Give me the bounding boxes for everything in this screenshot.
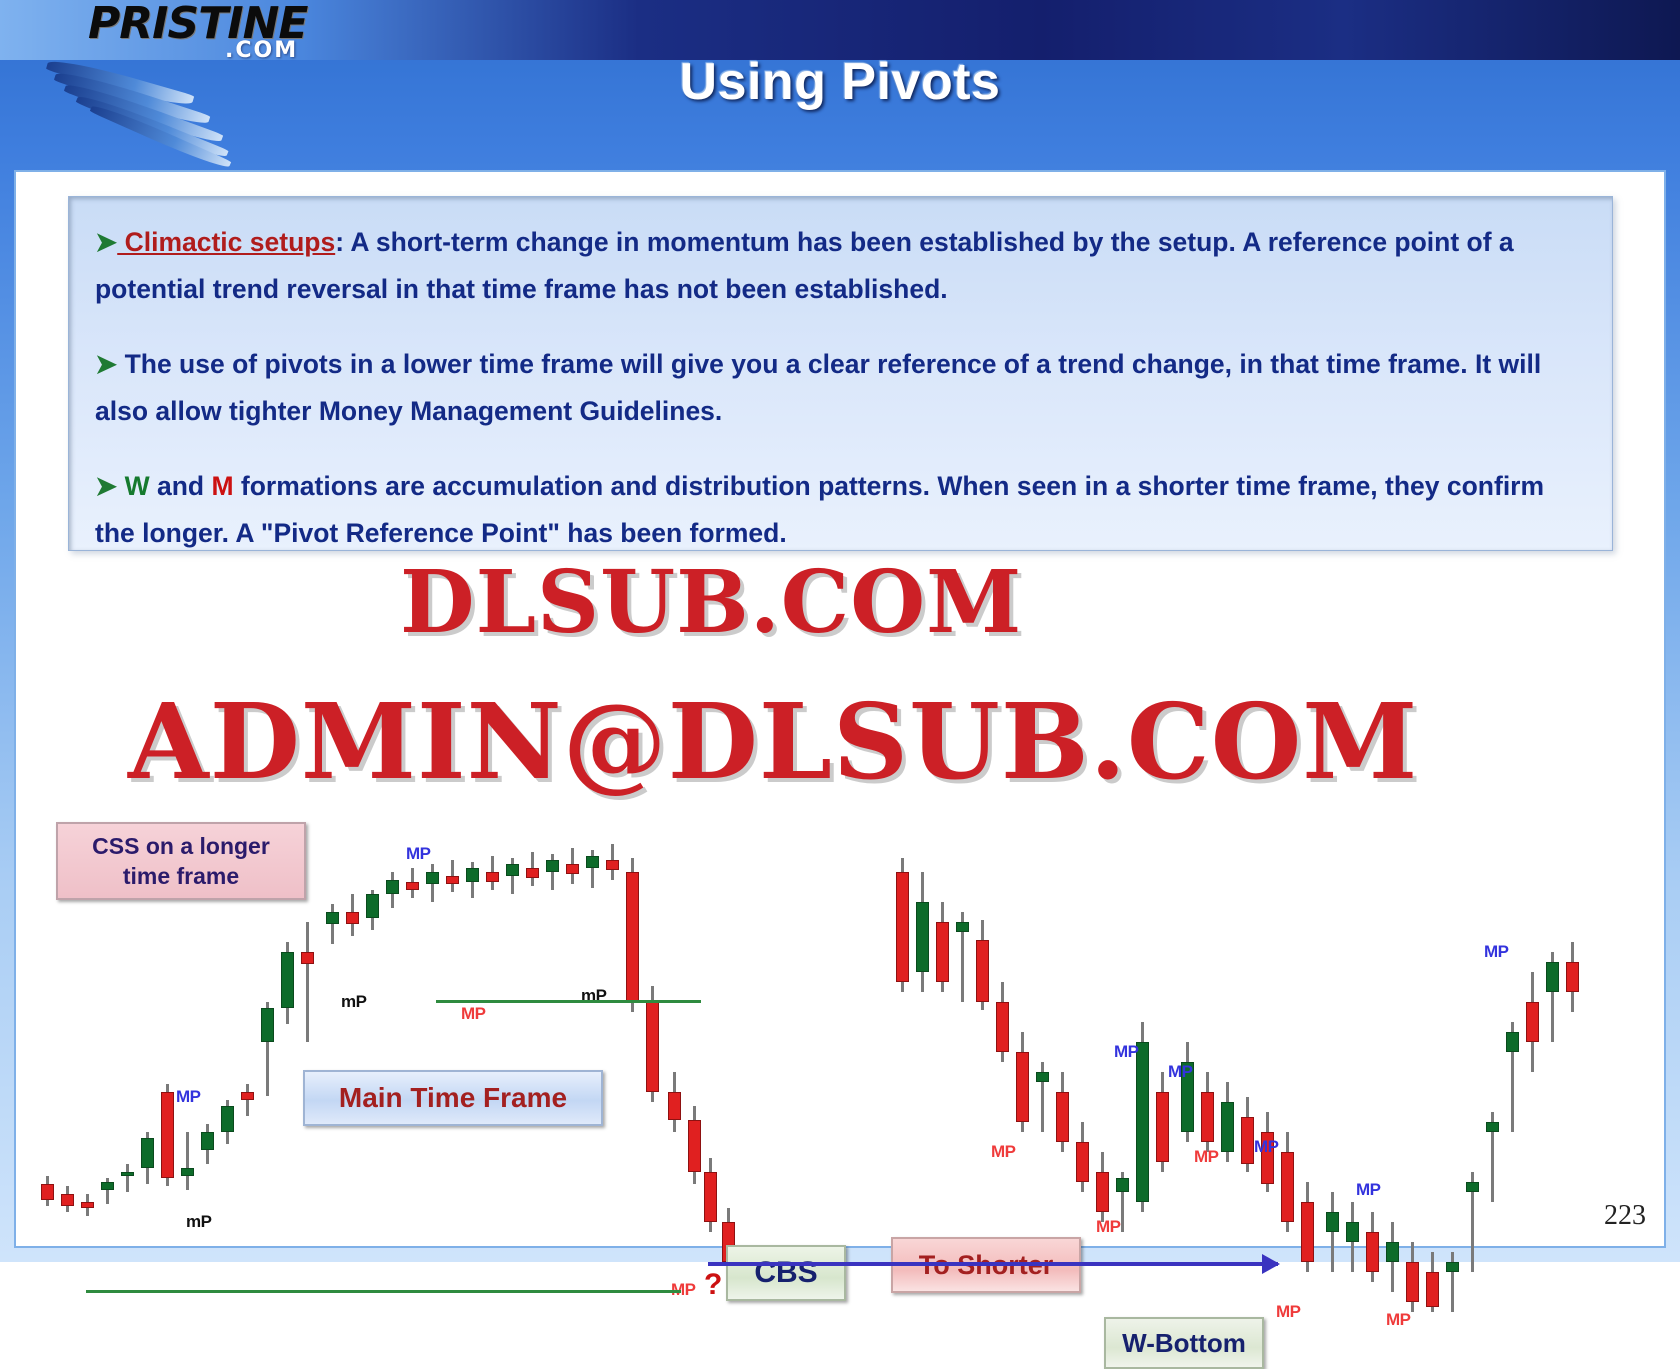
candle-body [1241, 1117, 1254, 1164]
candle [668, 1072, 681, 1132]
candle-body [1446, 1262, 1459, 1272]
candle [486, 856, 499, 890]
minor-pivot-marker: mP [186, 1212, 211, 1232]
candle [996, 982, 1009, 1062]
candle-body [688, 1120, 701, 1172]
candle [956, 912, 969, 1002]
candle [646, 986, 659, 1102]
candle [366, 890, 379, 930]
candle-body [1366, 1232, 1379, 1272]
candle-body [486, 872, 499, 882]
css-box-line2: time frame [123, 861, 239, 891]
candle-body [1301, 1202, 1314, 1262]
candle-body [546, 860, 559, 872]
candle-wick [1451, 1252, 1454, 1312]
candle [1181, 1042, 1194, 1142]
candle-body [1201, 1092, 1214, 1142]
candle-body [626, 872, 639, 1002]
candle [976, 920, 989, 1010]
candle-body [161, 1092, 174, 1178]
candle-body [566, 864, 579, 874]
candle-body [936, 922, 949, 982]
bullet-3-mid: and [150, 471, 212, 501]
m-formation-label: M [211, 471, 233, 501]
candle-body [1326, 1212, 1339, 1232]
css-box-line1: CSS on a longer [92, 831, 270, 861]
bullet-3-text: formations are accumulation and distribu… [95, 471, 1544, 548]
candle [346, 894, 359, 936]
candle [506, 858, 519, 894]
slide-canvas: PRISTINE .COM Using Pivots ➤ Climactic s… [0, 0, 1680, 1262]
candle [1201, 1072, 1214, 1152]
bullet-2-text: The use of pivots in a lower time frame … [95, 349, 1541, 426]
candle [1366, 1212, 1379, 1282]
candle-body [1156, 1092, 1169, 1162]
candle [566, 848, 579, 884]
candle-body [1386, 1242, 1399, 1262]
candle-body [1526, 1002, 1539, 1042]
minor-pivot-marker: mP [341, 992, 366, 1012]
candle-body [221, 1106, 234, 1132]
major-pivot-marker: MP [1484, 942, 1509, 962]
candle [1506, 1022, 1519, 1132]
candle-wick [1331, 1192, 1334, 1272]
candle-body [201, 1132, 214, 1150]
candle-body [121, 1172, 134, 1176]
major-pivot-marker: MP [461, 1004, 486, 1024]
candle [1546, 952, 1559, 1042]
major-pivot-marker: MP [1386, 1310, 1411, 1330]
candle [121, 1164, 134, 1192]
candle [61, 1186, 74, 1212]
candle-body [466, 868, 479, 882]
candle-body [1426, 1272, 1439, 1307]
candle-wick [126, 1164, 129, 1192]
candle [466, 862, 479, 898]
major-pivot-marker: MP [1254, 1137, 1279, 1157]
candle [1096, 1152, 1109, 1222]
candlestick-chart: MP mP mP MP mP MP MP MP MP MP MP MP MP M… [36, 572, 1636, 1232]
candle [261, 1002, 274, 1096]
candle-body [301, 952, 314, 964]
candle [1056, 1072, 1069, 1152]
major-pivot-marker: MP [406, 844, 431, 864]
candle-body [646, 1002, 659, 1092]
candle-body [1486, 1122, 1499, 1132]
callout-cbs[interactable]: CBS [726, 1245, 846, 1301]
bullet-arrow-icon: ➤ [95, 349, 117, 379]
candle-body [1221, 1102, 1234, 1152]
candle [688, 1106, 701, 1184]
candle [386, 872, 399, 908]
candle [1466, 1172, 1479, 1272]
candle [1526, 972, 1539, 1072]
candle [1326, 1192, 1339, 1272]
candle [81, 1194, 94, 1216]
bullet-3-pre [117, 471, 124, 501]
candle [704, 1158, 717, 1232]
candle [586, 850, 599, 888]
major-pivot-marker: MP [1096, 1217, 1121, 1237]
candle [141, 1132, 154, 1184]
candle [221, 1100, 234, 1144]
candle-body [1136, 1042, 1149, 1202]
candle [526, 852, 539, 886]
candle [41, 1176, 54, 1206]
candle [1281, 1132, 1294, 1232]
candle [161, 1084, 174, 1186]
candle-body [996, 1002, 1009, 1052]
candle [1301, 1182, 1314, 1272]
candle-body [506, 864, 519, 876]
candle-body [606, 860, 619, 870]
candle [1076, 1122, 1089, 1192]
candle-body [896, 872, 909, 982]
candle [1386, 1222, 1399, 1292]
bullet-arrow-icon: ➤ [95, 471, 117, 501]
candle [1486, 1112, 1499, 1202]
bullet-paragraph-3: ➤ W and M formations are accumulation an… [95, 463, 1586, 557]
candle [1426, 1252, 1439, 1312]
major-pivot-marker: MP [1168, 1062, 1193, 1082]
candle-body [446, 876, 459, 884]
major-pivot-marker: MP [1194, 1147, 1219, 1167]
candle-body [976, 940, 989, 1002]
candle [1016, 1032, 1029, 1132]
candle-body [1116, 1178, 1129, 1192]
candle-body [406, 882, 419, 890]
climactic-setups-label: Climactic setups [117, 227, 335, 257]
candle-body [586, 856, 599, 868]
candle [936, 902, 949, 992]
candle-wick [331, 904, 334, 944]
candle [896, 858, 909, 992]
bullet-paragraph-1: ➤ Climactic setups: A short-term change … [95, 219, 1586, 313]
support-reference-line [86, 1290, 681, 1293]
candle-body [1546, 962, 1559, 992]
w-formation-label: W [125, 471, 150, 501]
candle-body [704, 1172, 717, 1222]
major-pivot-marker: MP [176, 1087, 201, 1107]
candle-wick [186, 1132, 189, 1190]
candle [241, 1084, 254, 1116]
candle-body [1466, 1182, 1479, 1192]
candle-body [326, 912, 339, 924]
candle [281, 942, 294, 1024]
candle [101, 1178, 114, 1204]
candle [1566, 942, 1579, 1012]
candle-body [141, 1138, 154, 1168]
candle-wick [246, 1084, 249, 1116]
candle [426, 864, 439, 902]
candle-body [916, 902, 929, 972]
candle [446, 860, 459, 892]
candle-body [426, 872, 439, 884]
candle-body [1096, 1172, 1109, 1212]
candle-body [1076, 1142, 1089, 1182]
candle [201, 1124, 214, 1164]
candle [626, 858, 639, 1012]
candle [1156, 1072, 1169, 1172]
callout-w-bottom[interactable]: W-Bottom [1104, 1317, 1264, 1369]
candle-body [386, 880, 399, 894]
candle-body [346, 912, 359, 924]
candle [406, 868, 419, 898]
candle [1221, 1082, 1234, 1162]
candle [1406, 1242, 1419, 1312]
candle [1241, 1097, 1254, 1172]
candle-body [1566, 962, 1579, 992]
candle-body [1506, 1032, 1519, 1052]
candle [326, 904, 339, 944]
pivot-reference-line [436, 1000, 701, 1003]
minor-pivot-marker: mP [581, 986, 606, 1006]
header-band [0, 0, 1680, 60]
candle [916, 872, 929, 992]
major-pivot-marker: MP [1276, 1302, 1301, 1322]
candle [606, 844, 619, 880]
candle-body [41, 1184, 54, 1200]
major-pivot-marker: MP [1356, 1180, 1381, 1200]
candle-body [81, 1202, 94, 1208]
major-pivot-marker: MP [991, 1142, 1016, 1162]
candle [1036, 1062, 1049, 1132]
callout-css-longer-timeframe[interactable]: CSS on a longer time frame [56, 822, 306, 900]
question-mark-annotation: ? [704, 1268, 722, 1302]
candle-body [1056, 1092, 1069, 1142]
candle-body [181, 1168, 194, 1176]
page-number: 223 [1604, 1200, 1646, 1232]
candle-body [1346, 1222, 1359, 1242]
page-title: Using Pivots [0, 52, 1680, 112]
bullet-text-box: ➤ Climactic setups: A short-term change … [68, 196, 1613, 551]
bullet-paragraph-2: ➤ The use of pivots in a lower time fram… [95, 341, 1586, 435]
candle-body [1016, 1052, 1029, 1122]
candle-body [101, 1182, 114, 1190]
content-panel: ➤ Climactic setups: A short-term change … [14, 170, 1666, 1248]
candle [1446, 1252, 1459, 1312]
candle-wick [306, 922, 309, 1042]
candle-body [1036, 1072, 1049, 1082]
candle-body [366, 894, 379, 918]
candle-body [956, 922, 969, 932]
bullet-arrow-icon: ➤ [95, 227, 117, 257]
candle-body [281, 952, 294, 1008]
candle-body [1406, 1262, 1419, 1302]
candle-body [61, 1194, 74, 1206]
timeframe-transition-arrow [708, 1262, 1278, 1266]
candle [301, 922, 314, 1042]
candle-body [241, 1092, 254, 1100]
callout-main-time-frame[interactable]: Main Time Frame [303, 1070, 603, 1126]
major-pivot-marker: MP [1114, 1042, 1139, 1062]
candle [181, 1132, 194, 1190]
candle [546, 854, 559, 890]
candle-body [668, 1092, 681, 1120]
candle-body [526, 868, 539, 878]
candle-body [1281, 1152, 1294, 1222]
candle-body [261, 1008, 274, 1042]
